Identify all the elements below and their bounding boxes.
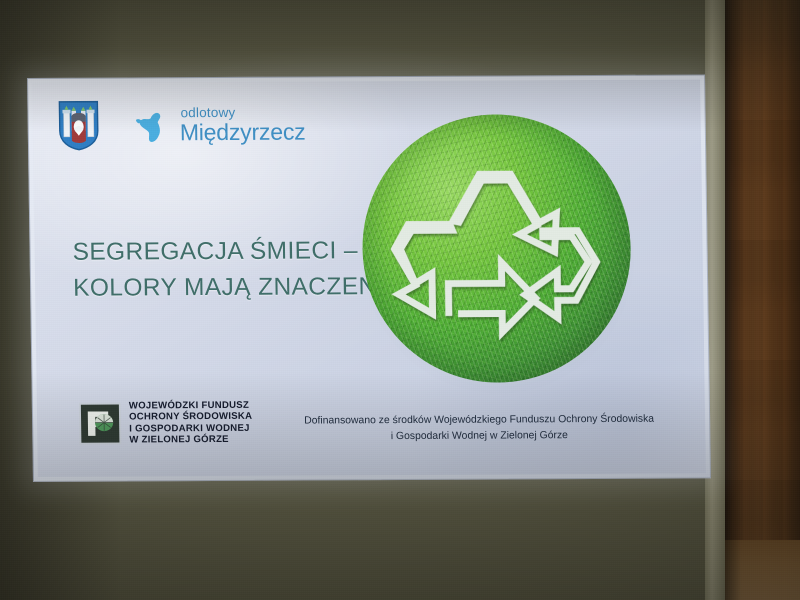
wfosigw-name-line-4: W ZIELONEJ GÓRZE xyxy=(129,434,252,446)
odlotowy-miedzyrzecz-logo: odlotowy Międzyrzecz xyxy=(134,104,305,147)
wfosigw-block: WOJEWÓDZKI FUNDUSZ OCHRONY ŚRODOWISKA I … xyxy=(79,400,253,446)
slide-header: odlotowy Międzyrzecz xyxy=(58,100,305,151)
funding-note-line-2: i Gospodarki Wodnej w Zielonej Górze xyxy=(269,428,689,446)
wfosigw-name: WOJEWÓDZKI FUNDUSZ OCHRONY ŚRODOWISKA I … xyxy=(129,400,253,446)
screen-frame: odlotowy Międzyrzecz SEGREGACJA ŚMIECI –… xyxy=(27,74,711,482)
door-edge-shadow xyxy=(723,0,741,600)
presentation-slide[interactable]: odlotowy Międzyrzecz SEGREGACJA ŚMIECI –… xyxy=(32,79,706,476)
odlotowy-bird-icon xyxy=(134,104,177,146)
logo-city-name: Międzyrzecz xyxy=(180,120,306,144)
wfosigw-leaf-f-logo-icon xyxy=(79,402,122,444)
grass-globe-recycling-icon xyxy=(350,100,644,391)
wfosigw-name-line-2: OCHRONY ŚRODOWISKA xyxy=(129,411,252,423)
miedzyrzecz-coat-of-arms-icon xyxy=(58,101,99,151)
funding-note-line-1: Dofinansowano ze środków Wojewódzkiego F… xyxy=(269,412,689,430)
wfosigw-name-line-3: I GOSPODARKI WODNEJ xyxy=(129,422,252,434)
funding-note: Dofinansowano ze środków Wojewódzkiego F… xyxy=(269,412,689,446)
recycling-arrows-icon xyxy=(379,132,614,365)
room-scene: odlotowy Międzyrzecz SEGREGACJA ŚMIECI –… xyxy=(0,0,800,600)
projection-screen[interactable]: odlotowy Międzyrzecz SEGREGACJA ŚMIECI –… xyxy=(27,74,711,482)
